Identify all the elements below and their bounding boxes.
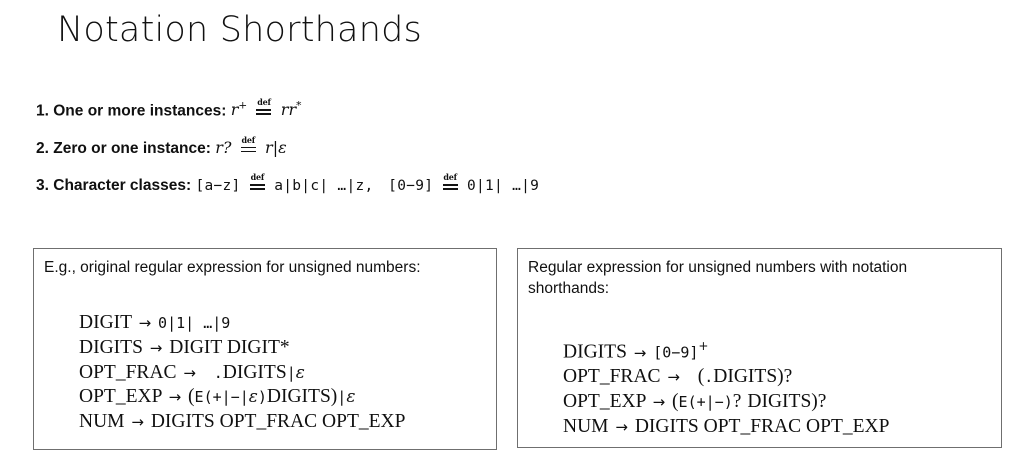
list-item-label: Zero or one instance: [53,140,211,157]
superscript-plus: + [238,100,247,112]
arrow-icon: → [613,418,630,436]
arrow-icon: → [665,368,682,386]
rule-opt-exp: OPT_EXP → (E(+|−)?DIGITS)? [563,390,889,415]
arrow-icon: → [129,413,146,431]
shorthand-regex-box: Regular expression for unsigned numbers … [517,248,1002,448]
def-equals-icon: def [249,177,266,192]
rule-rhs-charclass: [0−9] [653,344,698,362]
def-equals-icon: def [255,102,272,117]
rule-opt-exp: OPT_EXP → (E(+|−|ε)DIGITS)|ε [79,385,405,410]
superscript-plus: + [698,339,708,353]
rule-rhs: 0|1| …|9 [158,314,230,332]
def-line-top [250,184,265,185]
rule-rhs-paren: ) [258,388,267,406]
arrow-icon: → [181,364,198,382]
list-item-character-classes: 3. Character classes: [a−z] def a|b|c| …… [36,177,936,194]
rule-rhs: DIGIT DIGIT* [169,337,289,358]
arrow-icon: → [632,344,649,362]
box-caption: Regular expression for unsigned numbers … [528,257,983,299]
char-class-digit-lhs: [0−9] [388,178,433,194]
list-item-label: Character classes: [53,177,191,194]
def-line-top [256,109,271,110]
rule-lhs: DIGIT [79,312,132,333]
grammar-rules-shorthand: DIGITS → [0−9]+ OPT_FRAC → (.DIGITS)? OP… [563,334,889,440]
char-class-digit-rhs: 0|1| …|9 [467,178,539,194]
rule-rhs: DIGITS OPT_FRAC OPT_EXP [635,416,890,437]
rule-lhs: NUM [563,416,609,437]
list-item-label: One or more instances: [53,102,226,119]
def-line-top [443,184,458,185]
def-equals-icon: def [442,177,459,192]
rule-lhs: NUM [79,411,125,432]
arrow-icon: → [148,339,165,357]
rule-lhs: DIGITS [563,342,627,363]
rule-rhs-literal-e: E(+|−| [195,388,249,406]
def-line-bottom [256,113,271,114]
def-line-bottom [241,151,256,152]
def-label: def [255,98,272,106]
rule-rhs-nonterminal: DIGITS)? [747,391,826,412]
math-rhs: rr* [281,100,302,119]
epsilon-symbol: ε [296,363,305,383]
rule-rhs-nonterminal: DIGITS)? [713,366,792,387]
math-lhs: r? [215,138,231,157]
rule-lhs: OPT_FRAC [563,366,661,387]
list-item-one-or-more: 1. One or more instances: r+ def rr* [36,101,936,119]
grammar-rules-original: DIGIT → 0|1| …|9 DIGITS → DIGIT DIGIT* O… [79,311,405,435]
def-equals-icon: def [240,140,257,155]
rule-opt-frac: OPT_FRAC → .DIGITS|ε [79,361,405,386]
arrow-icon: → [651,393,668,411]
def-label: def [240,136,257,144]
rule-opt-frac: OPT_FRAC → (.DIGITS)? [563,365,889,390]
rule-rhs-bar: | [287,364,296,382]
shorthand-list: 1. One or more instances: r+ def rr* 2. … [36,101,936,215]
list-item-number: 1. [36,102,49,119]
original-regex-box: E.g., original regular expression for un… [33,248,497,450]
arrow-icon: → [167,388,184,406]
rule-num: NUM → DIGITS OPT_FRAC OPT_EXP [79,410,405,435]
math-lhs: r+ [231,100,247,119]
rule-digits: DIGITS → [0−9]+ [563,334,889,365]
def-line-bottom [443,188,458,189]
def-label: def [249,173,266,181]
def-line-top [241,147,256,148]
list-item-number: 2. [36,140,49,157]
math-rhs: r|ε [265,138,287,157]
list-item-number: 3. [36,177,49,194]
box-caption: E.g., original regular expression for un… [44,257,484,278]
rule-lhs: DIGITS [79,337,143,358]
rule-rhs-nonterminal: DIGITS) [267,386,337,407]
rule-rhs-optional: ? [733,391,742,412]
char-class-alpha-rhs: a|b|c| …|z, [274,178,373,194]
epsilon-symbol: ε [249,387,258,407]
rule-rhs-dot: . [704,368,713,386]
rule-lhs: OPT_EXP [563,391,646,412]
rule-rhs-nonterminal: DIGITS [223,362,287,383]
def-line-bottom [250,188,265,189]
superscript-star: * [296,100,301,112]
def-label: def [442,173,459,181]
arrow-icon: → [137,314,154,332]
rule-rhs-literal-e: E(+|−) [679,393,733,411]
rule-lhs: OPT_EXP [79,386,162,407]
rule-rhs-bar: | [337,388,346,406]
char-class-alpha-lhs: [a−z] [195,178,240,194]
epsilon-symbol: ε [346,387,355,407]
rule-rhs: DIGITS OPT_FRAC OPT_EXP [151,411,406,432]
rule-num: NUM → DIGITS OPT_FRAC OPT_EXP [563,415,889,440]
page-title: Notation Shorthands [57,10,422,50]
rule-digits: DIGITS → DIGIT DIGIT* [79,336,405,361]
list-item-zero-or-one: 2. Zero or one instance: r? def r|ε [36,140,936,157]
rule-lhs: OPT_FRAC [79,362,177,383]
rule-rhs-dot: . [214,364,223,382]
rule-digit: DIGIT → 0|1| …|9 [79,311,405,336]
